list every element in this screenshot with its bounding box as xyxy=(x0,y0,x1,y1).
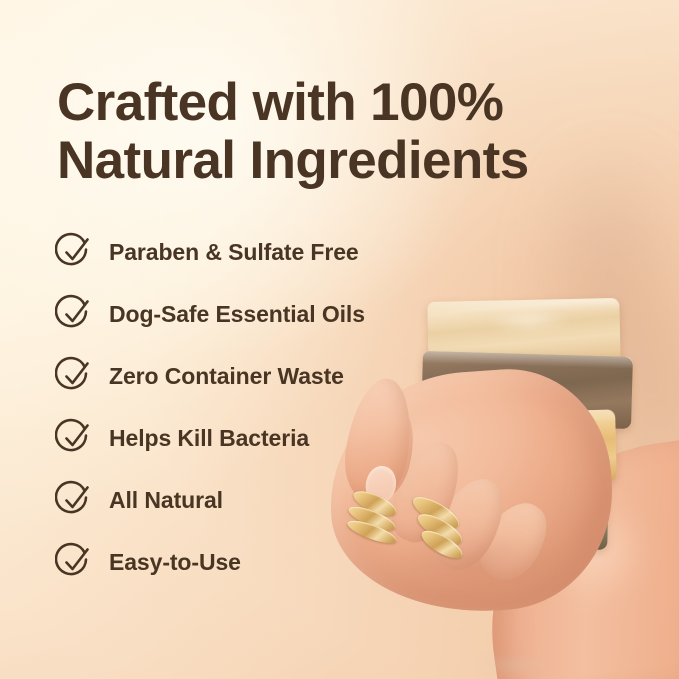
list-item: Helps Kill Bacteria xyxy=(55,407,475,469)
list-item: Paraben & Sulfate Free xyxy=(55,221,475,283)
list-item-label: Zero Container Waste xyxy=(109,363,344,390)
list-item-label: Easy-to-Use xyxy=(109,549,241,576)
list-item: Easy-to-Use xyxy=(55,531,475,593)
list-item: Zero Container Waste xyxy=(55,345,475,407)
list-item-label: Paraben & Sulfate Free xyxy=(109,239,359,266)
feature-list: Paraben & Sulfate Free Dog-Safe Essentia… xyxy=(55,221,475,593)
headline-line-2: Natural Ingredients xyxy=(57,132,557,190)
check-circle-icon xyxy=(55,418,95,458)
check-circle-icon xyxy=(55,294,95,334)
check-circle-icon xyxy=(55,232,95,272)
list-item-label: Dog-Safe Essential Oils xyxy=(109,301,365,328)
list-item-label: All Natural xyxy=(109,487,223,514)
check-circle-icon xyxy=(55,480,95,520)
product-feature-graphic: Crafted with 100% Natural Ingredients Pa… xyxy=(0,0,679,679)
list-item: Dog-Safe Essential Oils xyxy=(55,283,475,345)
check-circle-icon xyxy=(55,356,95,396)
list-item: All Natural xyxy=(55,469,475,531)
page-title: Crafted with 100% Natural Ingredients xyxy=(57,74,557,190)
headline-line-1: Crafted with 100% xyxy=(57,74,557,132)
list-item-label: Helps Kill Bacteria xyxy=(109,425,309,452)
check-circle-icon xyxy=(55,542,95,582)
